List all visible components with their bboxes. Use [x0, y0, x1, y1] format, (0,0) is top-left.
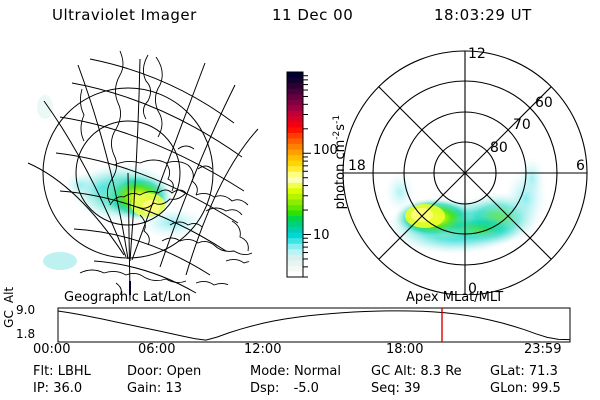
status-gain: Gain: 13: [127, 381, 182, 396]
status-mode-value: Normal: [294, 364, 341, 379]
orbit-xtick-1800: 18:00: [386, 342, 423, 357]
status-seq-label: Seq:: [371, 381, 400, 396]
colorbar-swatches: [287, 72, 303, 278]
status-glon-label: GLon:: [490, 381, 528, 396]
status-glon-value: 99.5: [532, 381, 561, 396]
observation-date: 11 Dec 00: [272, 6, 353, 24]
mlat-label-60: 60: [535, 95, 553, 111]
orbit-ytick-9: 9.0: [16, 303, 35, 317]
orbit-altitude-curve: [58, 311, 570, 340]
polar-grid: [343, 51, 587, 295]
status-gc-alt-label: GC Alt:: [371, 364, 416, 379]
status-mode-label: Mode:: [250, 364, 290, 379]
status-door: Door: Open: [127, 364, 201, 379]
app-title: Ultraviolet Imager: [52, 6, 197, 24]
status-bar: Flt: LBHL Door: Open Mode: Normal GC Alt…: [0, 364, 600, 398]
colorbar-ticks: [303, 76, 311, 277]
mlt-label-12: 12: [468, 46, 486, 62]
status-dsp-value: -5.0: [294, 381, 319, 396]
orbit-xtick-0000: 00:00: [33, 342, 70, 357]
mlt-label-6: 6: [576, 158, 585, 174]
orbit-altitude-strip[interactable]: GC Alt 9.0 1.8 00:00 06:00 12:00 18:00 2…: [0, 300, 600, 356]
geographic-plot: [20, 45, 270, 295]
status-row-1: Flt: LBHL Door: Open Mode: Normal GC Alt…: [0, 364, 600, 381]
orbit-ytick-1p8: 1.8: [16, 327, 35, 341]
status-flt-label: Flt:: [33, 364, 54, 379]
status-dsp: Dsp: -5.0: [250, 381, 319, 396]
orbit-plot: 9.0 1.8: [0, 300, 600, 356]
status-ip-label: IP:: [33, 381, 49, 396]
status-dsp-label: Dsp:: [250, 381, 279, 396]
mlat-label-80: 80: [490, 140, 508, 156]
mlat-label-70: 70: [513, 117, 531, 133]
status-ip: IP: 36.0: [33, 381, 82, 396]
orbit-y-axis-label-alt: Alt: [2, 272, 16, 318]
status-gain-label: Gain:: [127, 381, 161, 396]
orbit-plot-box: [58, 308, 570, 342]
observation-time: 18:03:29 UT: [434, 6, 532, 24]
status-mode: Mode: Normal: [250, 364, 341, 379]
colorbar-tick-label-10: 10: [313, 228, 330, 243]
status-gc-alt: GC Alt: 8.3 Re: [371, 364, 462, 379]
status-door-label: Door:: [127, 364, 162, 379]
orbit-xtick-1200: 12:00: [244, 342, 281, 357]
polar-image-panel[interactable]: 12 18 6 0 60 70 80: [330, 40, 592, 295]
status-glat: GLat: 71.3: [490, 364, 558, 379]
status-door-value: Open: [167, 364, 202, 379]
status-seq: Seq: 39: [371, 381, 421, 396]
polar-plot: 12 18 6 0 60 70 80: [330, 40, 592, 295]
status-gc-alt-value: 8.3 Re: [420, 364, 461, 379]
status-ip-value: 36.0: [53, 381, 82, 396]
status-seq-value: 39: [404, 381, 421, 396]
status-glat-label: GLat:: [490, 364, 525, 379]
aurora-emission-polar: [384, 156, 548, 254]
orbit-xtick-0600: 06:00: [138, 342, 175, 357]
status-glon: GLon: 99.5: [490, 381, 561, 396]
status-glat-value: 71.3: [529, 364, 558, 379]
orbit-xtick-2359: 23:59: [524, 342, 561, 357]
status-flt: Flt: LBHL: [33, 364, 91, 379]
mlt-label-18: 18: [348, 158, 366, 174]
status-flt-value: LBHL: [58, 364, 91, 379]
status-gain-value: 13: [165, 381, 182, 396]
geographic-image-panel[interactable]: [20, 45, 270, 295]
status-row-2: IP: 36.0 Gain: 13 Dsp: -5.0 Seq: 39 GLon…: [0, 381, 600, 398]
